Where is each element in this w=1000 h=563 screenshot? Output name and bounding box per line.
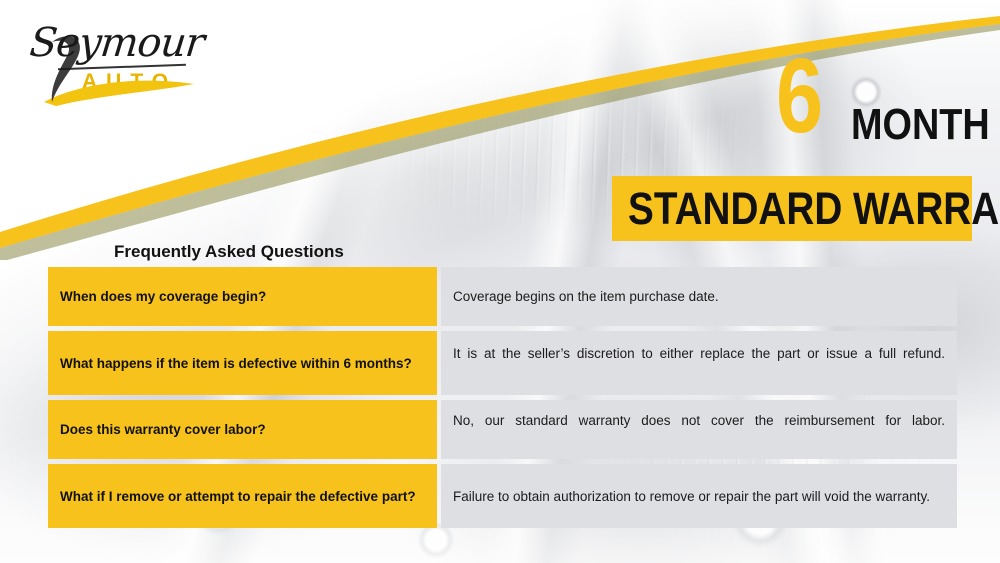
faq-answer-cell: Failure to obtain authorization to remov… <box>441 464 957 528</box>
faq-answer-cell: It is at the seller’s discretion to eith… <box>441 331 957 395</box>
standard-warranty-banner: STANDARD WARRANTY <box>612 176 972 241</box>
table-row: Does this warranty cover labor? No, our … <box>48 400 957 459</box>
faq-answer-cell: No, our standard warranty does not cover… <box>441 400 957 459</box>
table-row: What if I remove or attempt to repair th… <box>48 464 957 528</box>
faq-question-cell: Does this warranty cover labor? <box>48 400 437 459</box>
faq-answer-text: No, our standard warranty does not cover… <box>453 411 945 449</box>
table-row: What happens if the item is defective wi… <box>48 331 957 395</box>
duration-number: 6 <box>776 46 822 146</box>
warranty-slide: Seymour AUTO 6 MONTH STANDARD WARRANTY F… <box>0 0 1000 563</box>
table-row: When does my coverage begin? Coverage be… <box>48 267 957 326</box>
faq-answer-text: Coverage begins on the item purchase dat… <box>453 287 945 306</box>
faq-table: When does my coverage begin? Coverage be… <box>48 267 957 533</box>
faq-answer-text: Failure to obtain authorization to remov… <box>453 487 945 506</box>
faq-question-cell: What happens if the item is defective wi… <box>48 331 437 395</box>
standard-warranty-text: STANDARD WARRANTY <box>628 186 1000 231</box>
faq-question-cell: When does my coverage begin? <box>48 267 437 326</box>
faq-heading: Frequently Asked Questions <box>114 242 344 262</box>
logo-swoosh-icon <box>22 18 212 110</box>
faq-question-cell: What if I remove or attempt to repair th… <box>48 464 437 528</box>
faq-answer-cell: Coverage begins on the item purchase dat… <box>441 267 957 326</box>
faq-answer-text: It is at the seller’s discretion to eith… <box>453 344 945 382</box>
seymour-auto-logo: Seymour AUTO <box>22 18 212 110</box>
duration-unit-label: MONTH <box>851 103 990 147</box>
